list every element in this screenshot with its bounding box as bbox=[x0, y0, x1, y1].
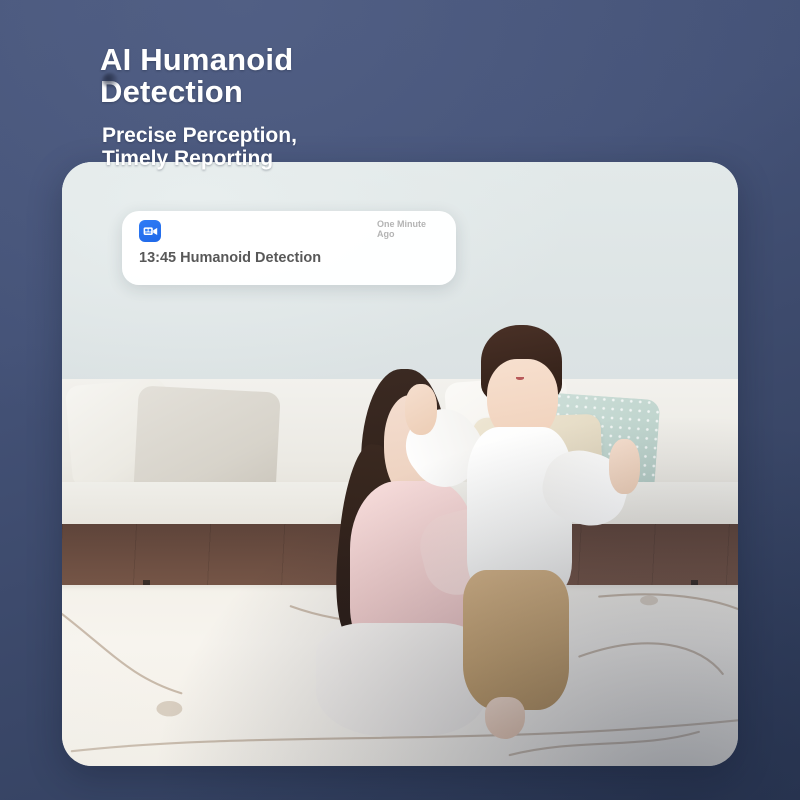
child-hand-right bbox=[609, 439, 640, 494]
notification-toast[interactable]: One Minute Ago 13:45 Humanoid Detection bbox=[122, 211, 456, 285]
notification-timestamp-label: One Minute Ago bbox=[377, 220, 443, 239]
camera-glyph-icon bbox=[143, 225, 158, 238]
promo-banner: AI Humanoid Detection Precise Perception… bbox=[0, 0, 800, 800]
child-hand-left bbox=[405, 384, 438, 435]
notification-message: 13:45 Humanoid Detection bbox=[139, 251, 438, 266]
headline-block: AI Humanoid Detection Precise Perception… bbox=[100, 44, 362, 171]
page-title: AI Humanoid Detection bbox=[100, 44, 350, 108]
notification-header: One Minute Ago bbox=[139, 220, 443, 246]
person-child bbox=[434, 325, 617, 748]
lens-smudge-decoration bbox=[102, 73, 118, 88]
child-pants bbox=[463, 570, 569, 710]
child-mouth bbox=[516, 377, 525, 381]
page-subtitle: Precise Perception, Timely Reporting bbox=[102, 124, 362, 171]
camera-app-icon bbox=[139, 220, 161, 242]
child-foot bbox=[485, 697, 525, 739]
